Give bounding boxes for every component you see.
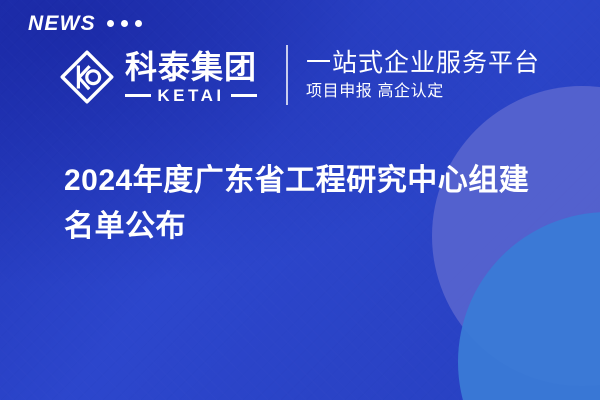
brand-lockup: 科泰集团 KETAI [58, 44, 257, 110]
slogan-secondary: 项目申报 高企认定 [306, 83, 540, 101]
slogan-primary: 一站式企业服务平台 [306, 50, 540, 77]
brand-latin-row: KETAI [125, 87, 257, 104]
ellipsis-dots-icon [107, 20, 142, 27]
brand-name-cn: 科泰集团 [125, 51, 257, 83]
brand-name-latin: KETAI [157, 87, 224, 104]
news-eyebrow: NEWS [28, 13, 142, 34]
ketai-diamond-k-logo-icon [58, 48, 116, 106]
news-banner: NEWS 科泰集团 KETAI [0, 0, 600, 400]
brand-rule-right [231, 94, 257, 97]
brand-wordmark: 科泰集团 KETAI [125, 51, 257, 104]
headline-title: 2024年度广东省工程研究中心组建名单公布 [64, 158, 534, 250]
slogan-block: 一站式企业服务平台 项目申报 高企认定 [306, 44, 540, 106]
vertical-divider [286, 45, 288, 105]
brand-rule-left [125, 94, 151, 97]
news-label: NEWS [28, 13, 96, 34]
